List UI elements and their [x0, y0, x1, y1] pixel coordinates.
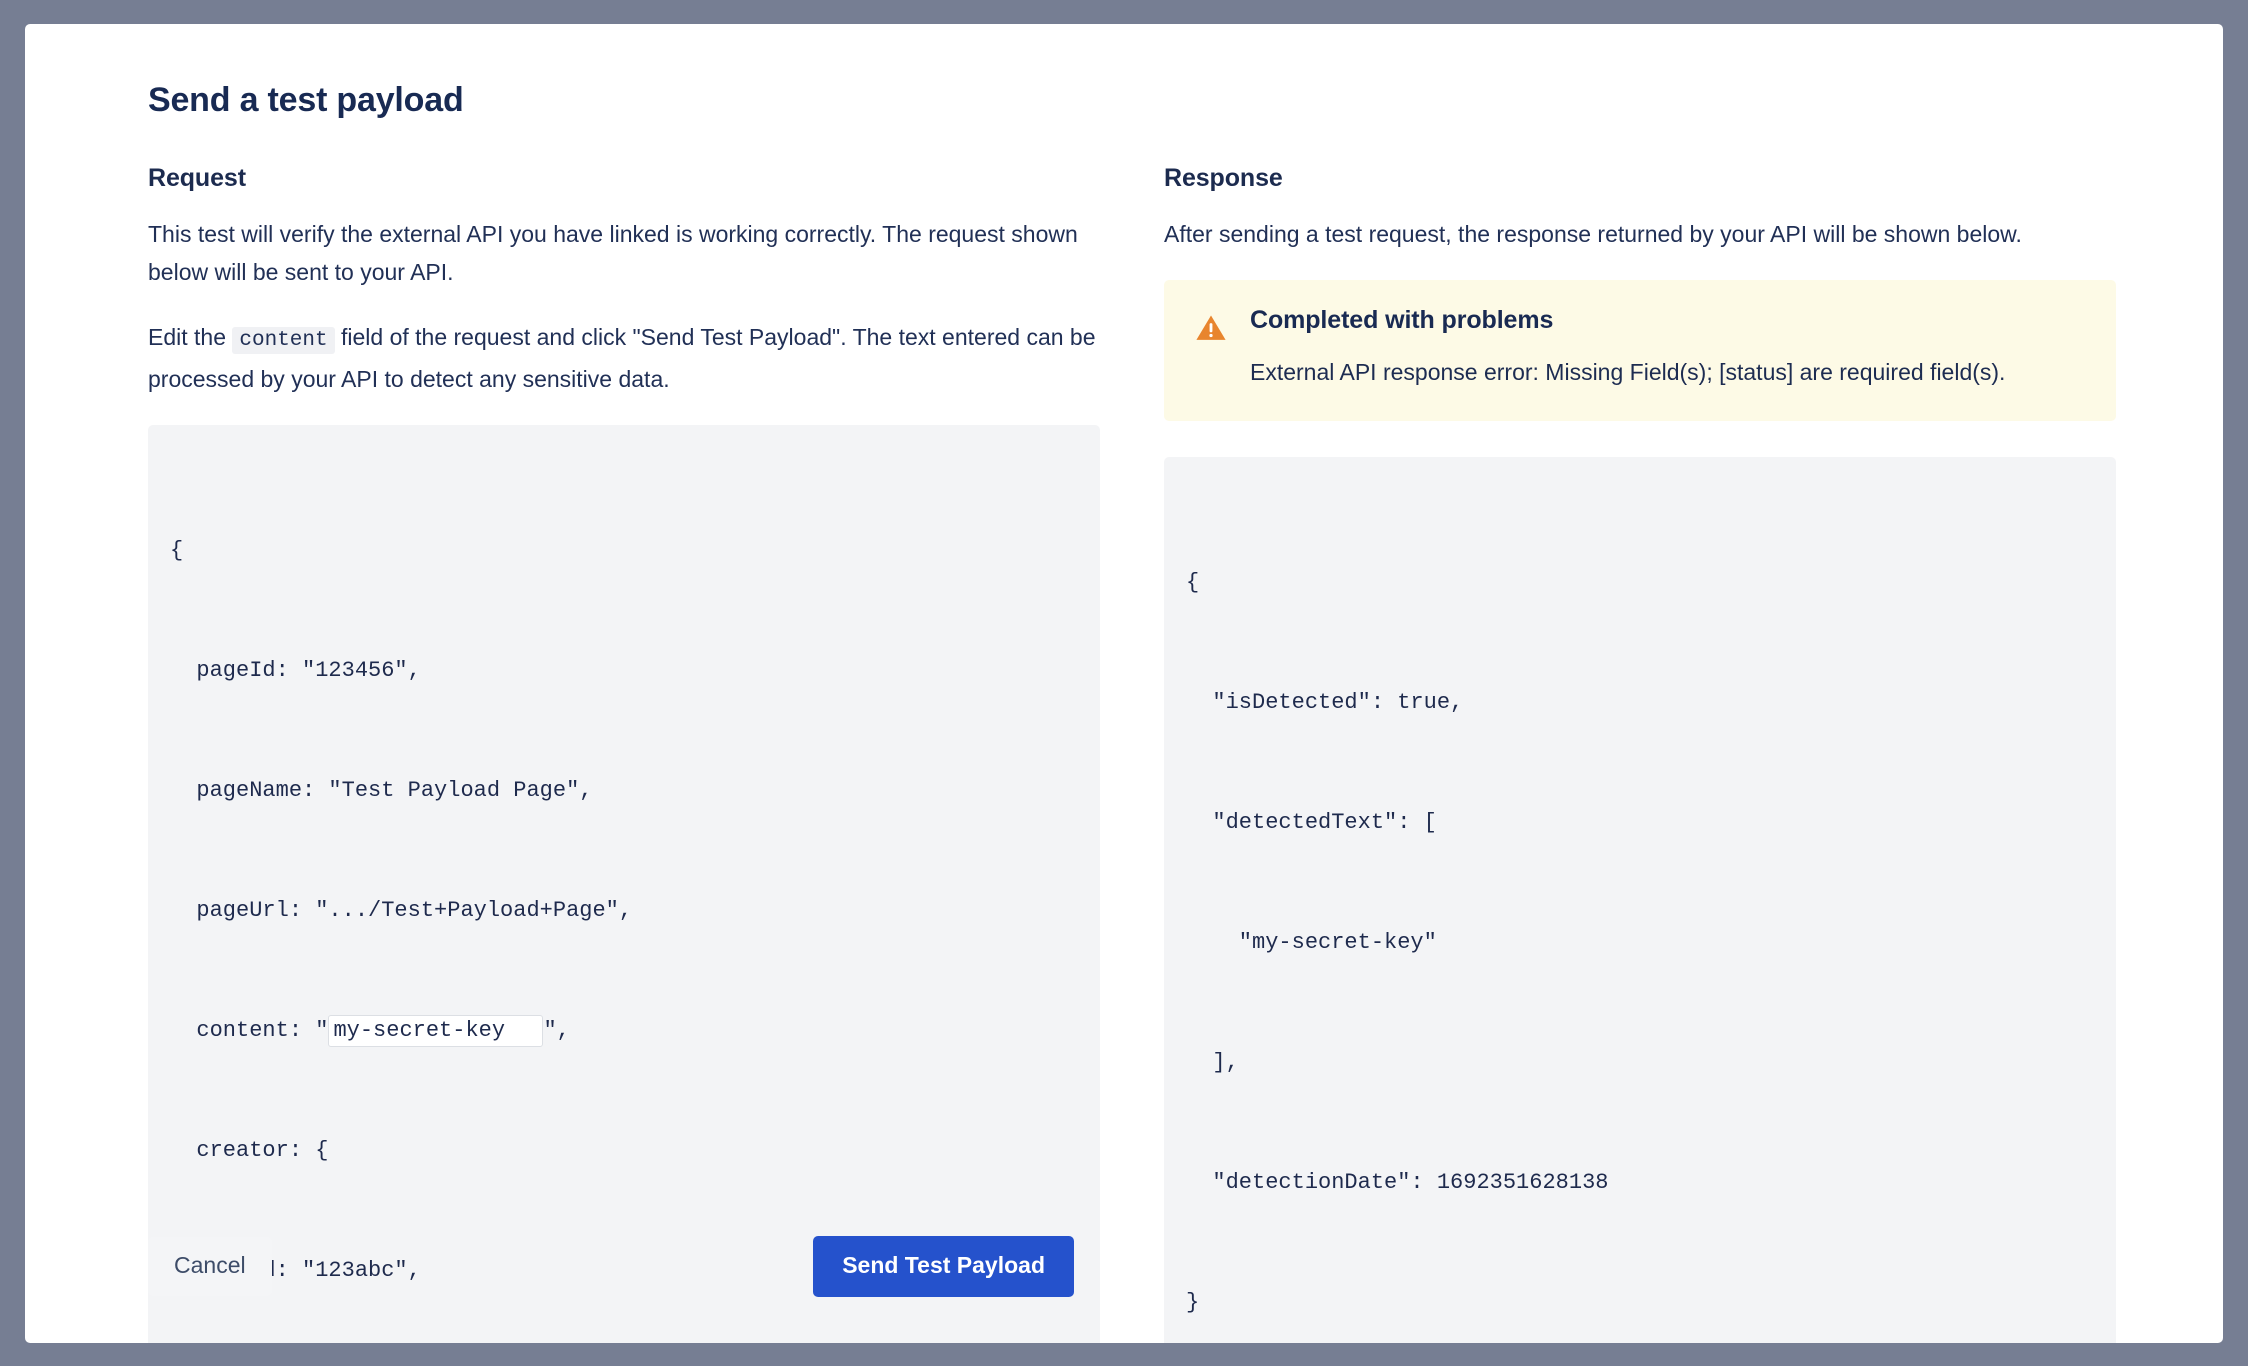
content-field-prefix: content: ": [170, 1018, 328, 1043]
code-line: "my-secret-key": [1186, 923, 2090, 963]
code-line: {: [170, 531, 1074, 571]
request-panel: Request This test will verify the extern…: [148, 164, 1100, 1343]
send-test-payload-button[interactable]: Send Test Payload: [813, 1236, 1074, 1297]
dialog-footer: Cancel Send Test Payload: [148, 1236, 1074, 1297]
cancel-button[interactable]: Cancel: [148, 1237, 272, 1296]
request-section-title: Request: [148, 164, 1100, 193]
request-paragraph-2: Edit the content field of the request an…: [148, 318, 1100, 398]
status-banner: Completed with problems External API res…: [1164, 280, 2116, 421]
status-banner-body: Completed with problems External API res…: [1250, 306, 2086, 391]
response-paragraph-1: After sending a test request, the respon…: [1164, 215, 2116, 253]
warning-triangle-icon: [1194, 311, 1228, 345]
content-field-row: content: "",: [170, 1011, 1074, 1051]
request-payload-code-block: { pageId: "123456", pageName: "Test Payl…: [148, 425, 1100, 1343]
content-value-input[interactable]: [328, 1015, 543, 1047]
page-title: Send a test payload: [148, 81, 464, 120]
code-line: }: [1186, 1283, 2090, 1323]
code-line: pageName: "Test Payload Page",: [170, 771, 1074, 811]
code-line: creator: {: [170, 1131, 1074, 1171]
status-banner-message: External API response error: Missing Fie…: [1250, 353, 2086, 391]
test-payload-dialog: Send a test payload Request This test wi…: [25, 24, 2223, 1343]
request-paragraph-2-before: Edit the: [148, 324, 226, 350]
content-field-suffix: ",: [543, 1018, 569, 1043]
response-payload-code-block: { "isDetected": true, "detectedText": [ …: [1164, 457, 2116, 1343]
code-line: "detectionDate": 1692351628138: [1186, 1163, 2090, 1203]
response-panel: Response After sending a test request, t…: [1164, 164, 2116, 1343]
code-line: {: [1186, 563, 2090, 603]
code-line: "detectedText": [: [1186, 803, 2090, 843]
code-line: pageId: "123456",: [170, 651, 1074, 691]
code-line: ],: [1186, 1043, 2090, 1083]
content-field-code-chip: content: [232, 327, 334, 354]
response-section-title: Response: [1164, 164, 2116, 193]
status-badge: Completed with problems: [1250, 306, 2086, 335]
request-paragraph-1: This test will verify the external API y…: [148, 215, 1100, 291]
code-line: "isDetected": true,: [1186, 683, 2090, 723]
code-line: pageUrl: ".../Test+Payload+Page",: [170, 891, 1074, 931]
